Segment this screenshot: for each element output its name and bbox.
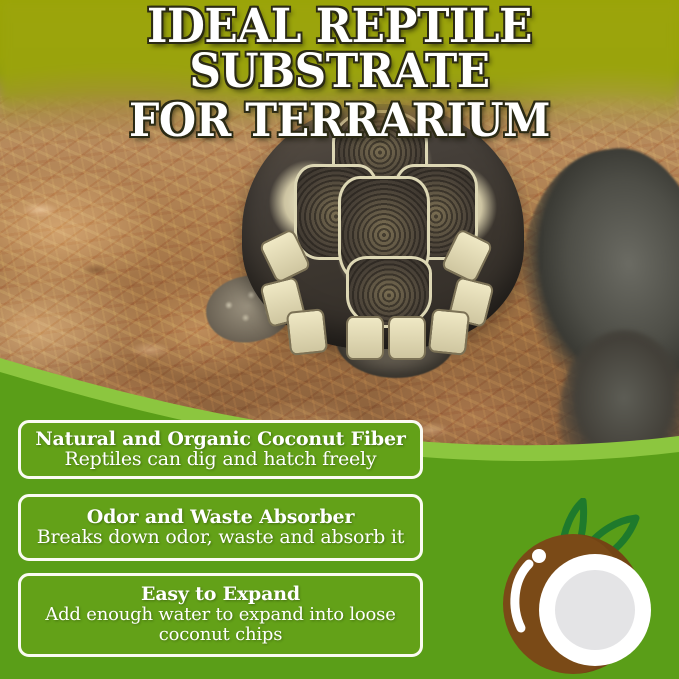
feature-title: Natural and Organic Coconut Fiber xyxy=(29,429,412,450)
feature-subtitle: Breaks down odor, waste and absorb it xyxy=(29,527,412,548)
product-infographic-poster: IDEAL REPTILE SUBSTRATE FOR TERRARIUM Na… xyxy=(0,0,679,679)
coconut-center xyxy=(555,570,635,650)
coconut-icon xyxy=(487,498,667,679)
shell-highlight-dot xyxy=(532,549,546,563)
feature-title: Easy to Expand xyxy=(29,584,412,605)
feature-title: Odor and Waste Absorber xyxy=(29,507,412,528)
feature-subtitle: Add enough water to expand into loose co… xyxy=(29,605,412,646)
shell-marginal-scute xyxy=(286,308,328,356)
feature-box-2: Odor and Waste Absorber Breaks down odor… xyxy=(18,494,423,561)
headline-line-2: FOR TERRARIUM xyxy=(24,98,655,142)
headline-line-1: IDEAL REPTILE SUBSTRATE xyxy=(24,4,655,94)
shell-marginal-scute xyxy=(428,308,470,356)
shell-marginal-scute xyxy=(346,316,384,360)
rock-hide-decor-lower xyxy=(559,330,679,500)
feature-box-1: Natural and Organic Coconut Fiber Reptil… xyxy=(18,420,423,479)
shell-marginal-scute xyxy=(388,316,426,360)
feature-box-3: Easy to Expand Add enough water to expan… xyxy=(18,573,423,657)
feature-subtitle: Reptiles can dig and hatch freely xyxy=(29,449,412,470)
page-title: IDEAL REPTILE SUBSTRATE FOR TERRARIUM xyxy=(0,4,679,142)
